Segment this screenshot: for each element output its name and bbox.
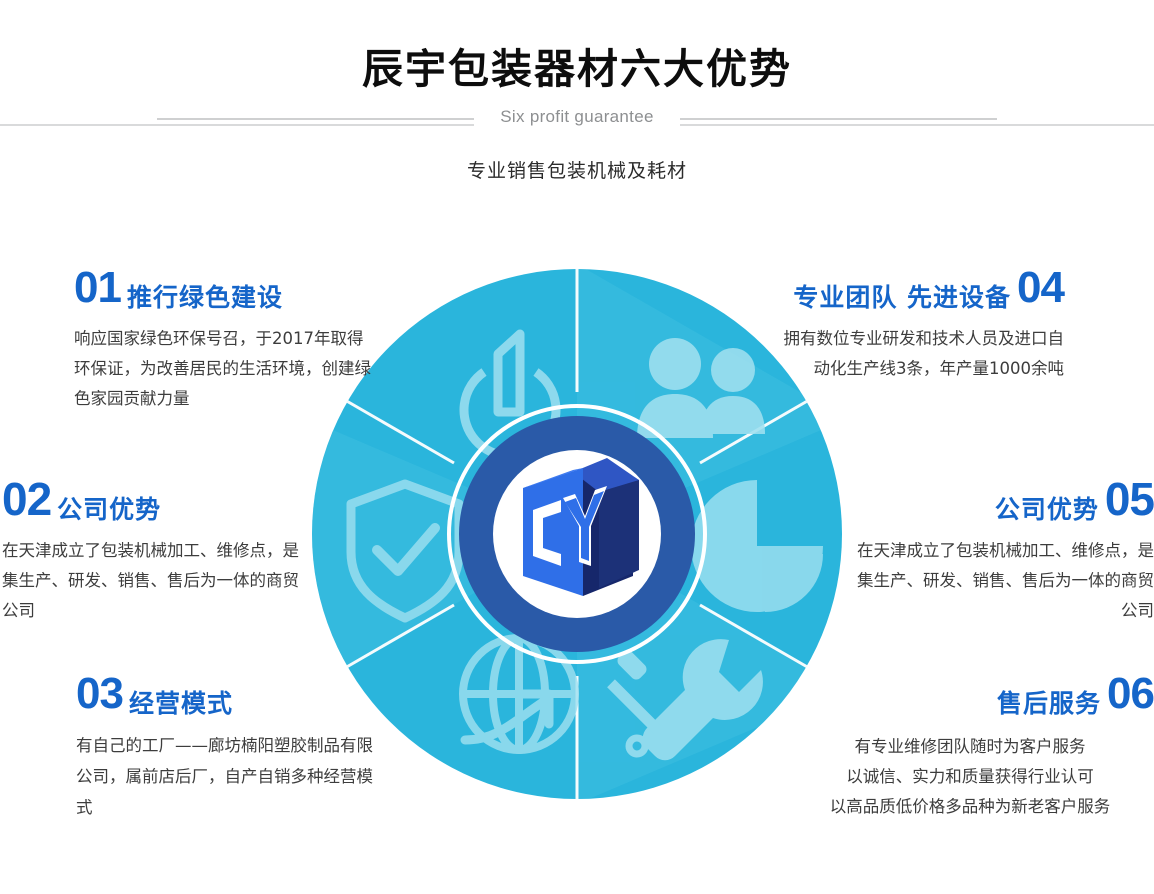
advantages-infographic: 辰宇包装器材六大优势 Six profit guarantee 专业销售包装机械… [0, 0, 1154, 894]
advantage-item-02: 02 公司优势 在天津成立了包装机械加工、维修点，是集生产、研发、销售、售后为一… [2, 476, 302, 626]
advantage-description-01: 响应国家绿色环保号召，于2017年取得环保证，为改善居民的生活环境，创建绿色家园… [74, 324, 374, 414]
advantage-heading-02: 02 公司优势 [2, 476, 302, 522]
advantage-description-06: 有专业维修团队随时为客户服务以诚信、实力和质量获得行业认可以高品质低价格多品种为… [786, 732, 1154, 822]
advantage-number-02: 02 [2, 476, 51, 522]
advantage-heading-03: 03 经营模式 [76, 672, 388, 716]
advantage-item-03: 03 经营模式 有自己的工厂——廊坊楠阳塑胶制品有限公司，属前店后厂，自产自销多… [76, 672, 388, 823]
advantage-title-05: 公司优势 [995, 497, 1099, 522]
advantage-title-02: 公司优势 [57, 497, 161, 522]
advantage-number-03: 03 [76, 672, 123, 716]
advantage-title-03: 经营模式 [129, 691, 233, 716]
advantage-number-06: 06 [1107, 672, 1154, 716]
subtitle-english-text: Six profit guarantee [474, 107, 679, 126]
advantage-item-01: 01 推行绿色建设 响应国家绿色环保号召，于2017年取得环保证，为改善居民的生… [74, 266, 374, 414]
advantage-number-05: 05 [1105, 476, 1154, 522]
advantage-number-04: 04 [1017, 266, 1064, 310]
advantage-heading-06: 售后服务 06 [786, 672, 1154, 716]
header: 辰宇包装器材六大优势 Six profit guarantee 专业销售包装机械… [0, 0, 1154, 210]
advantage-item-04: 专业团队 先进设备 04 拥有数位专业研发和技术人员及进口自动化生产线3条，年产… [776, 266, 1064, 384]
page-title: 辰宇包装器材六大优势 [0, 35, 1154, 95]
advantage-description-03: 有自己的工厂——廊坊楠阳塑胶制品有限公司，属前店后厂，自产自销多种经营模式 [76, 730, 388, 823]
advantage-number-01: 01 [74, 266, 121, 310]
six-segment-wheel [307, 264, 847, 804]
advantage-title-04: 专业团队 先进设备 [793, 285, 1011, 310]
advantage-heading-05: 公司优势 05 [856, 476, 1154, 522]
advantage-heading-04: 专业团队 先进设备 04 [776, 266, 1064, 310]
advantage-title-01: 推行绿色建设 [127, 285, 283, 310]
advantage-title-06: 售后服务 [997, 691, 1101, 716]
advantage-item-05: 公司优势 05 在天津成立了包装机械加工、维修点，是集生产、研发、销售、售后为一… [856, 476, 1154, 626]
advantage-heading-01: 01 推行绿色建设 [74, 266, 374, 310]
advantage-description-05: 在天津成立了包装机械加工、维修点，是集生产、研发、销售、售后为一体的商贸公司 [856, 536, 1154, 626]
globe-arrow-icon [463, 638, 575, 750]
subtitle-chinese: 专业销售包装机械及耗材 [0, 156, 1154, 183]
subtitle-english: Six profit guarantee [0, 107, 1154, 127]
advantage-description-02: 在天津成立了包装机械加工、维修点，是集生产、研发、销售、售后为一体的商贸公司 [2, 536, 302, 626]
advantage-item-06: 售后服务 06 有专业维修团队随时为客户服务以诚信、实力和质量获得行业认可以高品… [786, 672, 1154, 822]
advantage-description-04: 拥有数位专业研发和技术人员及进口自动化生产线3条，年产量1000余吨 [776, 324, 1064, 384]
